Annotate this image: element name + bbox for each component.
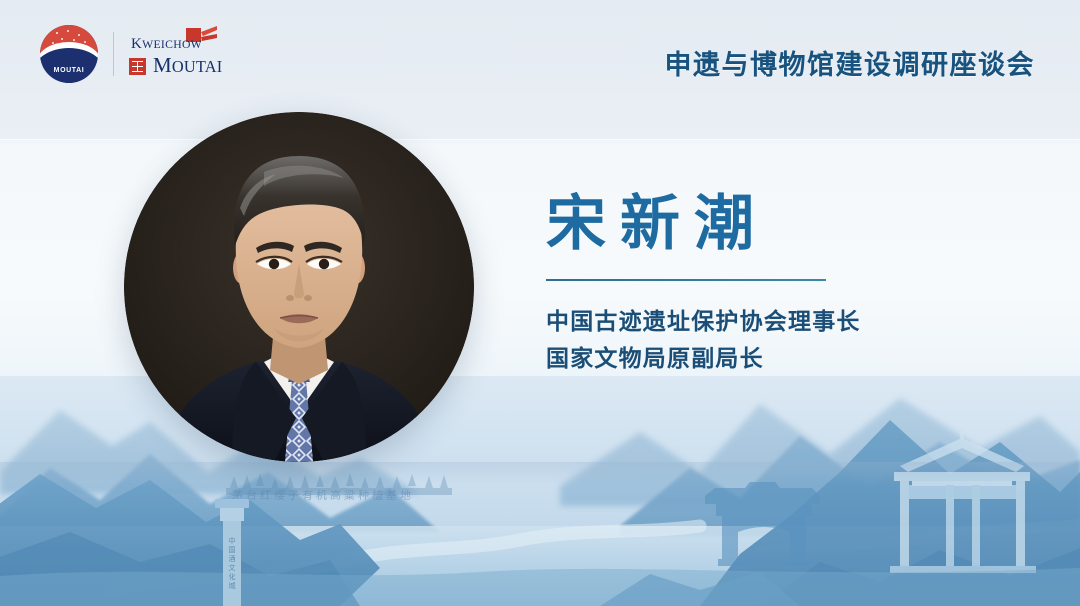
red-seal-icon [129,58,146,75]
name-divider-rule [546,279,826,281]
stele-neck [220,508,244,521]
portrait-illustration [124,112,474,462]
brand-logo-lockup: MOUTAI KWEICHOW MOUTAI [40,24,222,84]
speaker-title-list: 中国古迹遗址保护协会理事长 国家文物局原副局长 [546,303,1016,378]
wordmark-line-1: KWEICHOW [129,37,222,52]
stele-body: 中国酒文化城 [223,521,241,606]
portrait-photo [124,112,474,462]
stele-cap [215,499,249,508]
speaker-title-2: 国家文物局原副局长 [546,340,1016,377]
speaker-title-1: 中国古迹遗址保护协会理事长 [546,303,1016,340]
kweichow-moutai-wordmark: KWEICHOW MOUTAI [129,33,222,76]
speaker-card: MOUTAI KWEICHOW MOUTAI 申遗与博物馆建设调研座谈会 [0,0,1080,606]
roundel-wordmark: MOUTAI [40,67,98,74]
roundel-mountain [40,48,98,83]
event-title: 申遗与博物馆建设调研座谈会 [665,43,1036,82]
speaker-portrait [124,112,474,462]
scenery-illustration [0,376,1080,606]
logo-divider [113,32,114,76]
speaker-info: 宋新潮 中国古迹遗址保护协会理事长 国家文物局原副局长 [546,192,1016,377]
scenery-calligraphy: 茅台红缨子有机高粱种植基地 [231,487,414,503]
moutai-roundel-icon: MOUTAI [40,25,98,83]
stele-monument-icon: 中国酒文化城 [219,499,245,606]
foreground-water [0,568,1080,606]
stele-inscription: 中国酒文化城 [227,537,237,591]
haze-strip [0,462,1080,484]
speaker-name: 宋新潮 [546,192,1016,257]
